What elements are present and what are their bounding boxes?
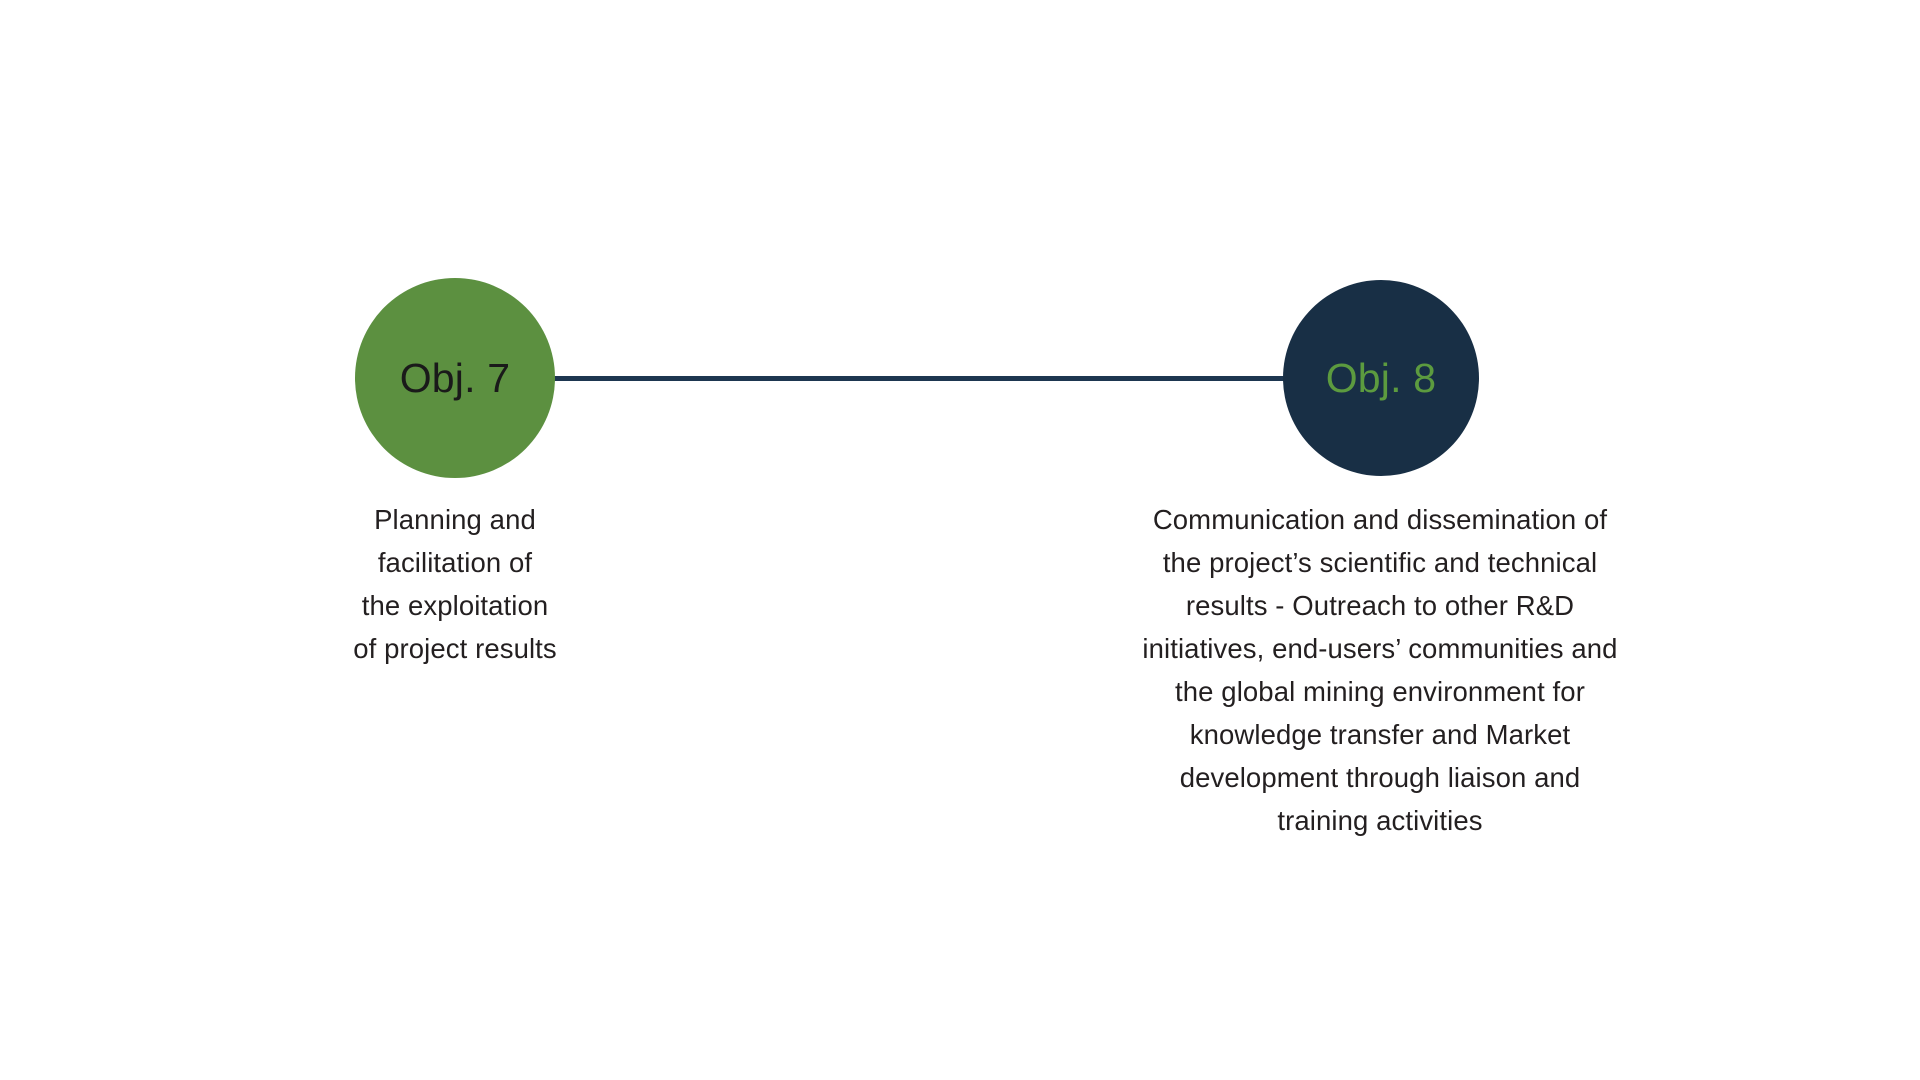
caption-line: Communication and dissemination of xyxy=(1065,498,1695,541)
caption-line: development through liaison and xyxy=(1065,756,1695,799)
caption-line: of project results xyxy=(275,627,635,670)
node-obj7-caption: Planning and facilitation of the exploit… xyxy=(275,498,635,670)
node-obj8-circle-label: Obj. 8 xyxy=(1326,358,1437,399)
caption-line: the project’s scientific and technical xyxy=(1065,541,1695,584)
caption-line: the global mining environment for xyxy=(1065,670,1695,713)
caption-line: results - Outreach to other R&D xyxy=(1065,584,1695,627)
connector-obj7-obj8 xyxy=(548,376,1288,381)
caption-line: facilitation of xyxy=(275,541,635,584)
caption-line: the exploitation xyxy=(275,584,635,627)
caption-line: training activities xyxy=(1065,799,1695,842)
node-obj7-circle[interactable]: Obj. 7 xyxy=(355,278,555,478)
caption-line: initiatives, end-users’ communities and xyxy=(1065,627,1695,670)
caption-line: Planning and xyxy=(275,498,635,541)
node-obj8-circle[interactable]: Obj. 8 xyxy=(1283,280,1479,476)
diagram-canvas: Obj. 7 Planning and facilitation of the … xyxy=(0,0,1920,1080)
caption-line: knowledge transfer and Market xyxy=(1065,713,1695,756)
node-obj7-circle-label: Obj. 7 xyxy=(400,358,511,399)
node-obj8-caption: Communication and dissemination of the p… xyxy=(1065,498,1695,842)
